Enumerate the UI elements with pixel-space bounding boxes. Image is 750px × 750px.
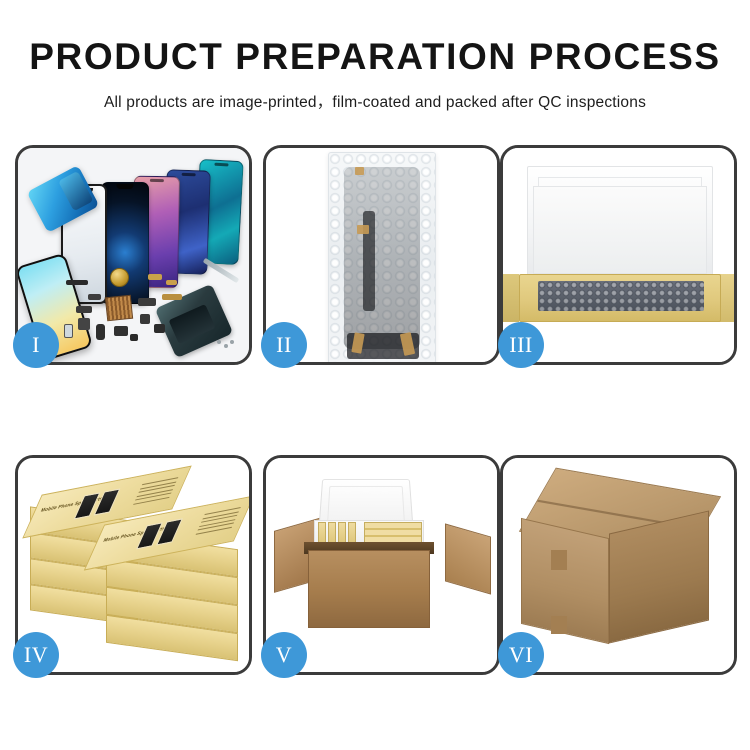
product-preparation-process-infographic: PRODUCT PREPARATION PROCESS All products… [0, 0, 750, 750]
phone-screen-dark-icon [101, 182, 149, 304]
process-step-4: Mobile Phone Spare Parts Mobile Phone Sp… [15, 455, 252, 675]
step-badge-2: II [261, 322, 307, 368]
component-part-icon [140, 314, 150, 324]
box-spec-lines [194, 507, 241, 538]
page-title: PRODUCT PREPARATION PROCESS [0, 38, 750, 77]
component-part-icon [166, 280, 177, 285]
bubble-wrapped-contents-icon [538, 281, 704, 311]
step-badge-5: V [261, 632, 307, 678]
component-part-icon [78, 318, 90, 330]
tape-icon [355, 167, 364, 175]
notch-icon [214, 163, 228, 167]
screws-icon [217, 340, 235, 350]
process-step-5: V [263, 455, 500, 675]
box-stack-icon: Mobile Phone Spare Parts Mobile Phone Sp… [26, 472, 244, 662]
sim-tray-icon [64, 324, 73, 338]
component-part-icon [88, 294, 101, 300]
gold-connector-icon [162, 294, 182, 300]
yellow-box-tray-icon [519, 274, 721, 322]
component-part-icon [148, 274, 162, 280]
chip-array-icon [105, 295, 133, 322]
component-part-icon [114, 326, 128, 336]
step-badge-4: IV [13, 632, 59, 678]
process-step-3: III [500, 145, 737, 365]
process-step-6: VI [500, 455, 737, 675]
step-badge-6: VI [498, 632, 544, 678]
component-part-icon [154, 324, 165, 333]
step-badge-1: I [13, 322, 59, 368]
process-step-grid: I II [15, 145, 737, 675]
page-subtitle: All products are image-printed，film-coat… [0, 90, 750, 112]
box-art-phone-icon [74, 492, 101, 519]
carton-side-face-icon [609, 510, 709, 643]
component-part-icon [138, 298, 156, 306]
component-part-icon [66, 280, 88, 285]
flex-cable-icon [96, 324, 105, 340]
tape-icon [357, 225, 369, 234]
foam-sheet-icon [533, 186, 707, 274]
notch-icon [150, 179, 164, 182]
box-spec-lines [132, 477, 179, 508]
carton-tab-icon [551, 550, 567, 570]
vibration-motor-icon [110, 268, 129, 287]
header: PRODUCT PREPARATION PROCESS All products… [0, 38, 750, 112]
process-step-2: II [263, 145, 500, 365]
carton-body-icon [308, 550, 430, 628]
component-part-icon [130, 334, 138, 341]
wrapped-phone-part-icon [344, 167, 420, 349]
process-step-1: I [15, 145, 252, 365]
bubble-wrap-bag-icon [328, 152, 436, 362]
carton-tab-icon [551, 616, 567, 634]
box-art-phone-icon [136, 522, 163, 549]
carton-flap-right-icon [445, 523, 491, 594]
step-badge-3: III [498, 322, 544, 368]
component-part-icon [76, 306, 92, 313]
box-side-left-icon [503, 274, 519, 322]
notch-icon [182, 173, 196, 176]
